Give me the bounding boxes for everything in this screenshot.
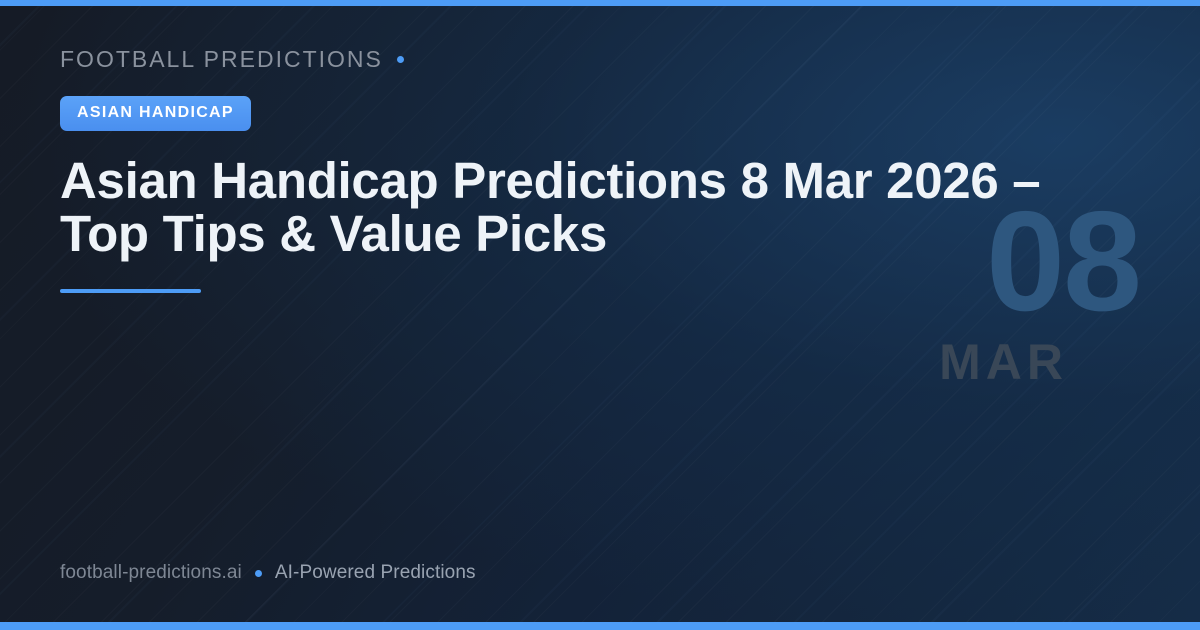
- top-accent-bar: [0, 0, 1200, 6]
- date-month: MAR: [939, 337, 1068, 387]
- footer-site-name: football-predictions.ai: [60, 562, 242, 584]
- page-title: Asian Handicap Predictions 8 Mar 2026 – …: [60, 154, 1070, 260]
- bottom-accent-bar: [0, 622, 1200, 630]
- category-badge: ASIAN HANDICAP: [60, 96, 251, 131]
- card-content: FOOTBALL PREDICTIONS ASIAN HANDICAP Asia…: [60, 44, 1080, 293]
- bullet-dot-icon: [397, 56, 404, 63]
- eyebrow-label: FOOTBALL PREDICTIONS: [60, 46, 383, 73]
- title-underline-accent: [60, 289, 201, 293]
- bullet-dot-icon: [255, 570, 262, 577]
- og-share-card: 08 MAR FOOTBALL PREDICTIONS ASIAN HANDIC…: [0, 0, 1200, 630]
- eyebrow-row: FOOTBALL PREDICTIONS: [60, 44, 1080, 74]
- footer: football-predictions.ai AI-Powered Predi…: [60, 562, 476, 584]
- footer-tagline: AI-Powered Predictions: [275, 562, 476, 584]
